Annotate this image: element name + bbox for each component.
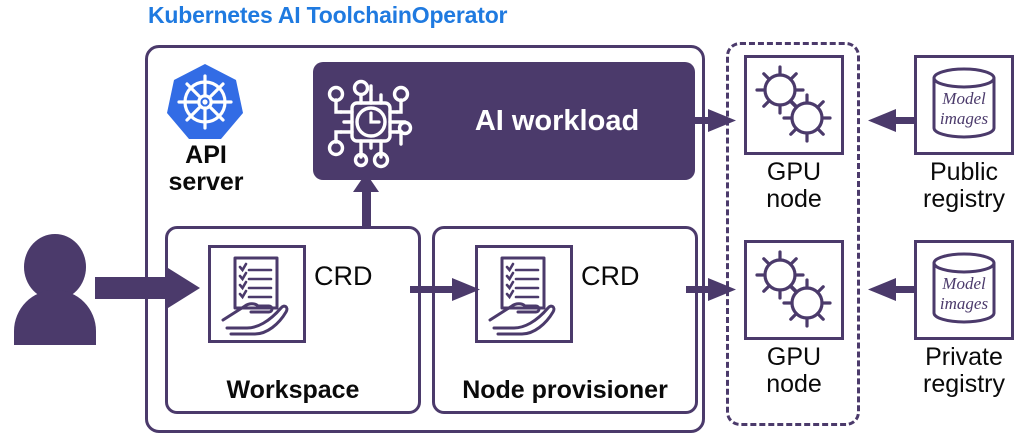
api-server-label-line2: server: [158, 169, 254, 196]
public-registry-caption-line1: Public: [908, 159, 1020, 186]
ai-workload-box[interactable]: AI workload: [313, 62, 695, 180]
node-provisioner-crd-label: CRD: [581, 261, 640, 292]
crd-document-hand-icon: [208, 245, 306, 343]
crd-document-hand-icon: [475, 245, 573, 343]
api-server-label: API server: [158, 142, 254, 196]
gpu-node-1-caption-line1: GPU: [740, 159, 848, 186]
gears-icon: [744, 240, 844, 340]
registry-db-line1: Model: [941, 89, 986, 108]
gpu-node-1-caption-line2: node: [740, 186, 848, 213]
kubernetes-logo-icon: [165, 62, 245, 142]
workspace-box[interactable]: CRD Workspace: [165, 226, 421, 414]
database-cylinder-icon: Model images: [914, 240, 1014, 340]
gpu-node-2[interactable]: GPU node: [740, 240, 848, 398]
gears-icon: [744, 55, 844, 155]
registry-db-line1: Model: [941, 274, 986, 293]
gpu-node-1[interactable]: GPU node: [740, 55, 848, 213]
ai-chip-icon: [327, 78, 415, 166]
registry-db-line2: images: [940, 294, 989, 313]
database-cylinder-icon: Model images: [914, 55, 1014, 155]
private-registry-caption: Private registry: [908, 344, 1020, 398]
node-provisioner-caption: Node provisioner: [435, 376, 695, 405]
private-registry[interactable]: Model images Private registry: [908, 240, 1020, 398]
node-provisioner-box[interactable]: CRD Node provisioner: [432, 226, 698, 414]
api-server-label-line1: API: [158, 142, 254, 169]
user-icon: [10, 235, 100, 345]
private-registry-caption-line2: registry: [908, 371, 1020, 398]
gpu-node-1-caption: GPU node: [740, 159, 848, 213]
public-registry-caption-line2: registry: [908, 186, 1020, 213]
ai-workload-label: AI workload: [423, 62, 691, 180]
public-registry[interactable]: Model images Public registry: [908, 55, 1020, 213]
gpu-node-2-caption-line2: node: [740, 371, 848, 398]
gpu-node-2-caption-line1: GPU: [740, 344, 848, 371]
public-registry-caption: Public registry: [908, 159, 1020, 213]
workspace-caption: Workspace: [168, 376, 418, 405]
private-registry-caption-line1: Private: [908, 344, 1020, 371]
gpu-node-2-caption: GPU node: [740, 344, 848, 398]
registry-db-line2: images: [940, 109, 989, 128]
page-title: Kubernetes AI ToolchainOperator: [148, 2, 507, 29]
workspace-crd-label: CRD: [314, 261, 373, 292]
